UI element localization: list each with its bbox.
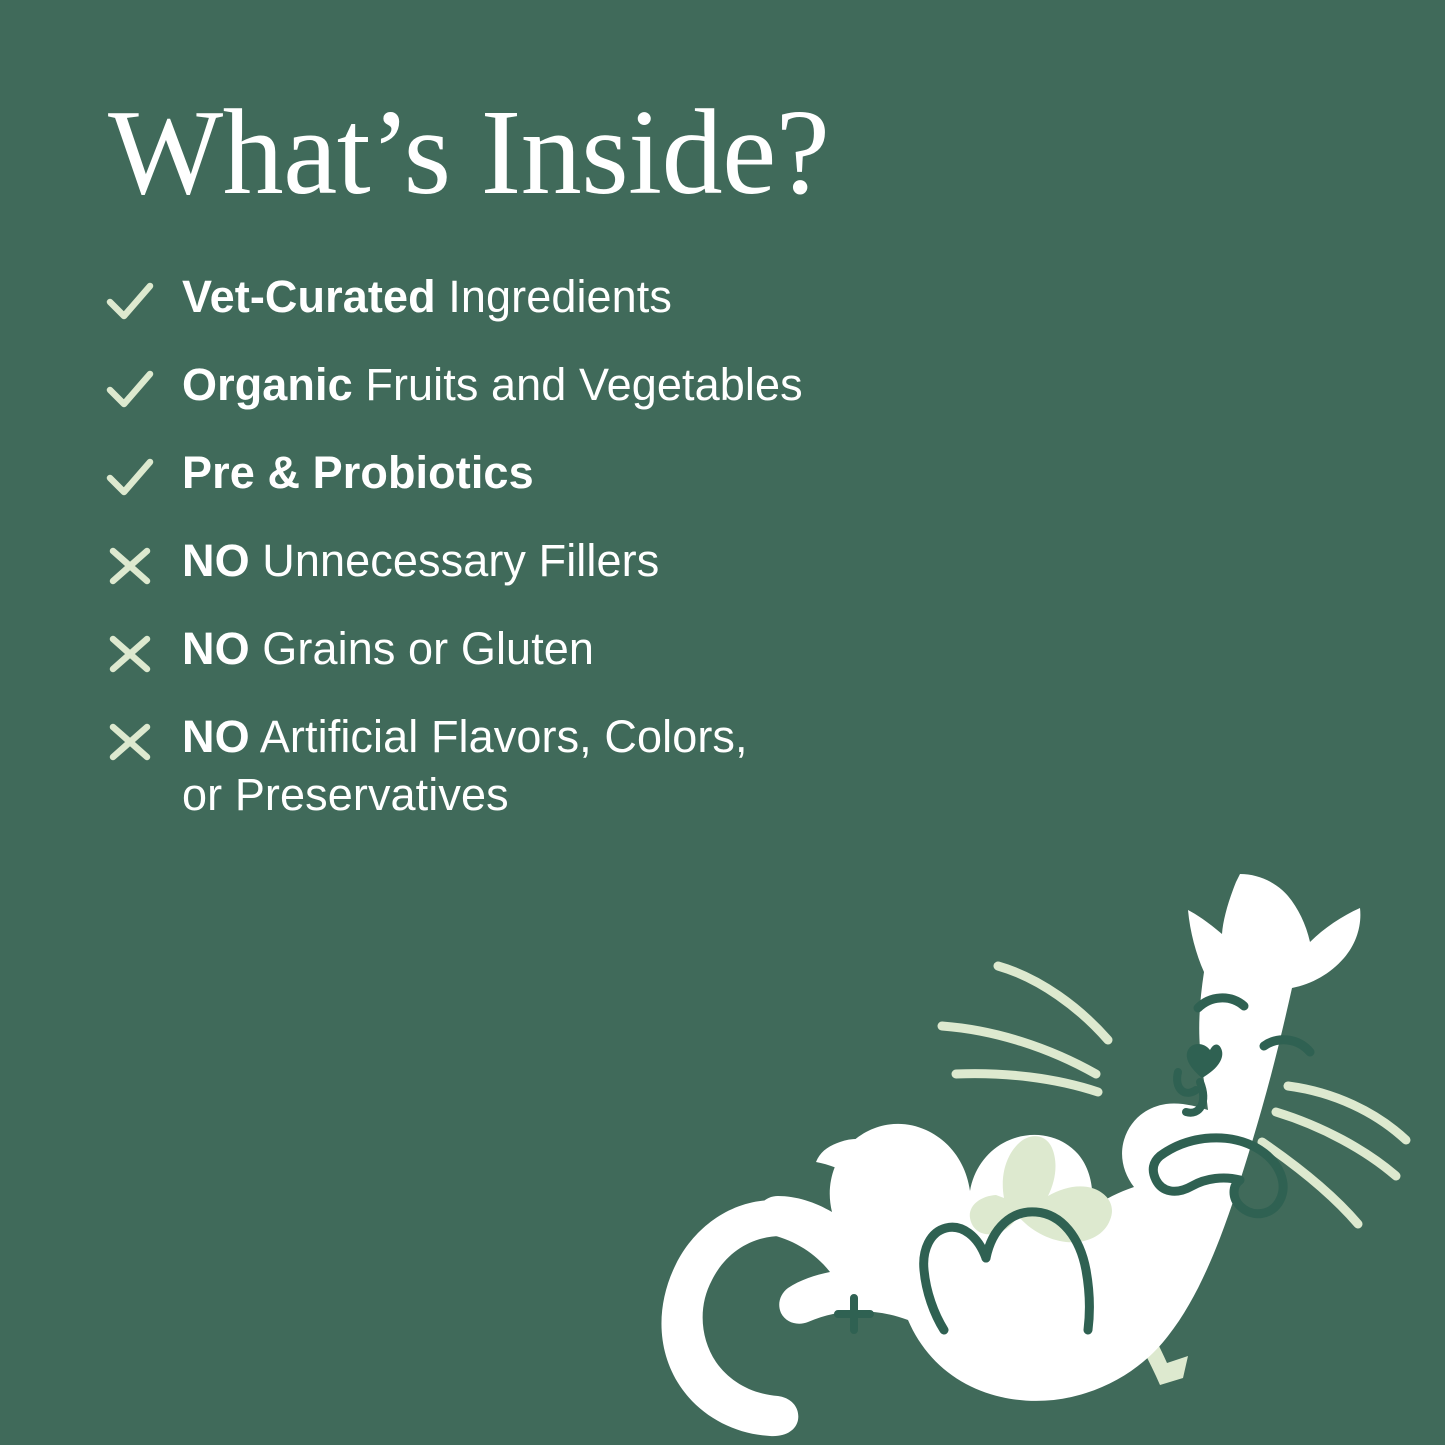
feature-text: NO Grains or Gluten — [182, 620, 594, 678]
page-title: What’s Inside? — [108, 92, 829, 214]
feature-regular-line2: or Preservatives — [182, 769, 509, 820]
feature-text: NO Artificial Flavors, Colors, or Preser… — [182, 708, 748, 824]
whisker-left-1 — [998, 966, 1108, 1040]
cross-icon — [104, 624, 156, 680]
feature-regular: Artificial Flavors, Colors, — [250, 711, 748, 762]
feature-strong: Vet-Curated — [182, 271, 436, 322]
feature-strong: NO — [182, 623, 250, 674]
feature-row: NO Grains or Gluten — [104, 620, 1104, 678]
check-icon — [104, 272, 156, 328]
feature-regular: Ingredients — [436, 271, 672, 322]
promo-panel: What’s Inside? Vet-Curated Ingredients O… — [0, 0, 1445, 1445]
feature-regular: Unnecessary Fillers — [250, 535, 660, 586]
whisker-left-2 — [942, 1026, 1096, 1074]
feature-text: Pre & Probiotics — [182, 444, 534, 502]
cat-tail — [661, 1200, 806, 1436]
whisker-right-1 — [1288, 1086, 1406, 1140]
feature-strong: Pre & Probiotics — [182, 447, 534, 498]
feature-text: Organic Fruits and Vegetables — [182, 356, 803, 414]
cross-icon — [104, 536, 156, 592]
feature-regular: Grains or Gluten — [250, 623, 594, 674]
feature-row: Organic Fruits and Vegetables — [104, 356, 1104, 414]
feature-strong: Organic — [182, 359, 353, 410]
feature-regular: Fruits and Vegetables — [353, 359, 803, 410]
feature-row: NO Unnecessary Fillers — [104, 532, 1104, 590]
feature-strong: NO — [182, 535, 250, 586]
cat-mouth-left — [1177, 1072, 1196, 1093]
whisker-left-3 — [956, 1074, 1098, 1092]
feature-row: NO Artificial Flavors, Colors, or Preser… — [104, 708, 1104, 824]
feature-row: Pre & Probiotics — [104, 444, 1104, 502]
check-icon — [104, 360, 156, 416]
feature-row: Vet-Curated Ingredients — [104, 268, 1104, 326]
check-icon — [104, 448, 156, 504]
feature-text: Vet-Curated Ingredients — [182, 268, 672, 326]
feature-strong: NO — [182, 711, 250, 762]
cross-icon — [104, 712, 156, 768]
feature-list: Vet-Curated Ingredients Organic Fruits a… — [104, 268, 1104, 824]
reclining-cat-illustration — [600, 858, 1445, 1445]
cat-body — [757, 874, 1360, 1401]
feature-text: NO Unnecessary Fillers — [182, 532, 659, 590]
